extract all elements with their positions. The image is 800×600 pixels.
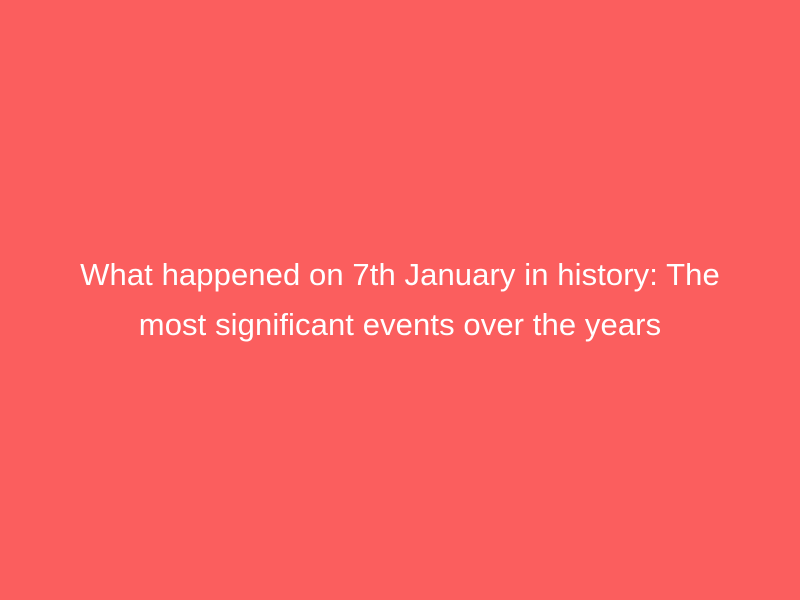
page-title: What happened on 7th January in history:… (54, 250, 746, 350)
headline-card: What happened on 7th January in history:… (0, 0, 800, 600)
headline-block: What happened on 7th January in history:… (54, 250, 746, 350)
